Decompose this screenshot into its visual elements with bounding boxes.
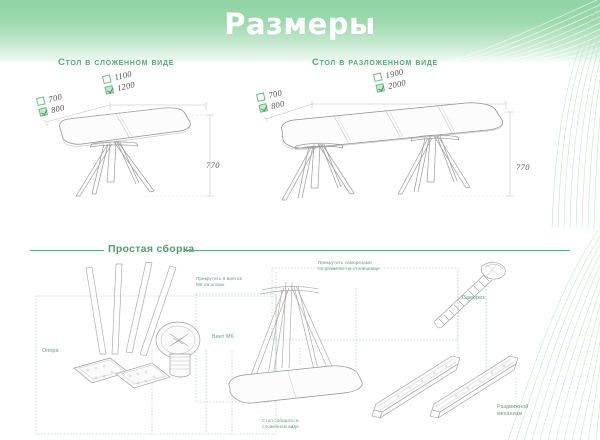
- assembly-section-header: Простая сборка: [30, 243, 570, 257]
- page-header: Размеры: [0, 0, 600, 64]
- folded-table-drawing: [24, 84, 244, 209]
- checkbox-unchecked[interactable]: [102, 74, 112, 84]
- extended-table-drawing: [252, 82, 542, 210]
- poster-page: Размеры: [0, 0, 600, 440]
- part-label-slide-mechanism: Раздвижной механизм: [497, 404, 528, 418]
- section-title-extended: Стол в разложенном виде: [312, 57, 438, 68]
- section-title-folded: Стол в сложенном виде: [58, 57, 174, 68]
- checkbox-unchecked[interactable]: [373, 72, 383, 82]
- assembly-title: Простая сборка: [108, 243, 194, 255]
- note-screw-tabletop: Прикрутить саморезами по разметке на сто…: [318, 260, 438, 272]
- page-title: Размеры: [0, 7, 600, 41]
- part-label-self-tapping-screw: Саморез: [462, 295, 485, 302]
- note-screw-legs: Прикрутить 8 винтов М6 на опоры: [196, 276, 288, 288]
- part-label-bolt-m6: Винт М6: [212, 334, 234, 341]
- note-fold-warning: Стол собирать в сложенном виде: [262, 418, 342, 430]
- assembly-rule-right: [184, 250, 570, 251]
- assembly-rule-left: [30, 250, 104, 251]
- part-label-support: Опора: [42, 348, 59, 355]
